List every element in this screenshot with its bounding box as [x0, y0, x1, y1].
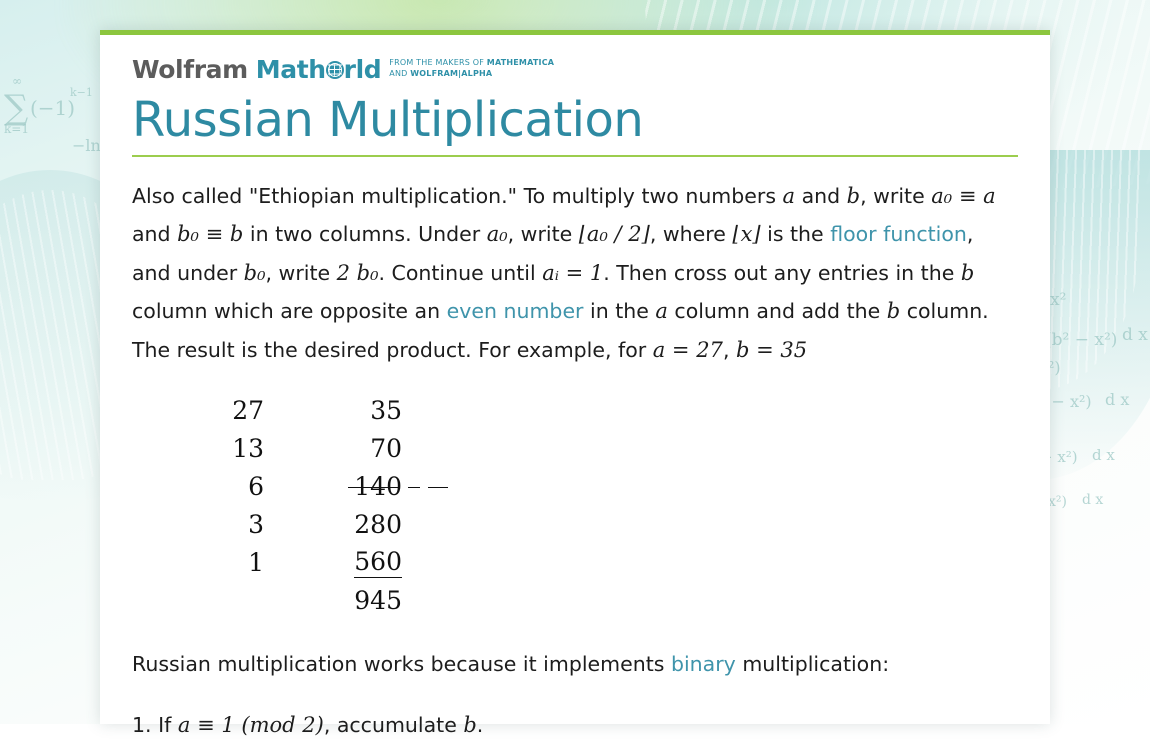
- p1-text-17: ,: [723, 338, 736, 362]
- list-item-1-text-2: , accumulate: [324, 713, 464, 737]
- cell-column-b: 70: [264, 429, 402, 467]
- cell-column-b: 280: [264, 505, 402, 543]
- cell-column-a: 6: [192, 467, 264, 505]
- tagline-line1-bold: MATHEMATICA: [487, 58, 554, 67]
- p1-text-3: , write: [860, 184, 931, 208]
- value: 280: [354, 510, 402, 539]
- bg-formula-3: (−1): [30, 96, 75, 120]
- cell-column-a: 1: [192, 543, 264, 581]
- equation-a-equals-27: a = 27: [653, 338, 723, 362]
- p1-text-15: column and add the: [668, 299, 887, 323]
- logo-wolfram-text: Wolfram: [132, 57, 248, 82]
- worked-example-table: 27351370614032801560945: [192, 391, 1018, 619]
- p1-text-5: in two columns. Under: [243, 222, 486, 246]
- algorithm-list: 1. If a ≡ 1 (mod 2), accumulate b.: [132, 706, 1018, 744]
- table-row: 3280: [192, 505, 402, 543]
- cell-column-b: 560: [264, 543, 402, 581]
- logo-tagline: FROM THE MAKERS OF MATHEMATICA AND WOLFR…: [389, 58, 554, 82]
- p2-text-2: multiplication:: [736, 652, 889, 676]
- list-item-1: 1. If a ≡ 1 (mod 2), accumulate b.: [132, 713, 483, 737]
- p1-text-10: , write: [266, 261, 337, 285]
- value: 35: [370, 396, 402, 425]
- bg-formula-13: d x: [1092, 446, 1115, 464]
- cell-column-a: 27: [192, 391, 264, 429]
- equation-b-equals-35: b = 35: [736, 338, 807, 362]
- logo-math-text: Math: [256, 57, 326, 82]
- content-card: Wolfram Mathrld FROM THE MAKERS OF MATHE…: [100, 30, 1050, 724]
- var-b0: b₀: [244, 261, 266, 285]
- tagline-line2-bold: WOLFRAM|ALPHA: [410, 69, 492, 78]
- equation-a-equiv-1-mod-2: a ≡ 1 (mod 2): [178, 713, 324, 737]
- bg-formula-6: x²: [1050, 290, 1066, 310]
- bg-formula-1: ∞: [12, 74, 22, 88]
- globe-icon: [326, 61, 344, 79]
- link-floor-function[interactable]: floor function: [830, 222, 967, 246]
- var-b-1: b: [847, 184, 860, 208]
- list-item-1-number: 1.: [132, 713, 152, 737]
- logo-mathworld-text: Mathrld: [256, 57, 382, 82]
- calc-table: 27351370614032801560945: [192, 391, 402, 619]
- p1-text-6: , write: [508, 222, 579, 246]
- var-b-col: b: [961, 261, 974, 285]
- crossed-out-value: 140: [354, 472, 402, 501]
- p1-text-4: and: [132, 222, 177, 246]
- equation-b0-equiv-b: b₀ ≡ b: [177, 222, 243, 246]
- bg-formula-5: −ln: [72, 136, 101, 155]
- equation-ai-equals-1: aᵢ = 1: [542, 261, 603, 285]
- p1-text-11: . Continue until: [379, 261, 543, 285]
- link-binary[interactable]: binary: [671, 652, 736, 676]
- cell-column-a: 3: [192, 505, 264, 543]
- intro-paragraph: Also called "Ethiopian multiplication." …: [132, 177, 1018, 370]
- table-row: 6140: [192, 467, 402, 505]
- var-a0: a₀: [487, 222, 508, 246]
- p2-text-1: Russian multiplication works because it …: [132, 652, 671, 676]
- equation-floor-x: ⌊x⌋: [732, 222, 760, 246]
- logo-world-tail: rld: [344, 57, 382, 82]
- table-row: 1370: [192, 429, 402, 467]
- bg-formula-14: x²): [1048, 494, 1067, 510]
- var-b-col-2: b: [887, 299, 900, 323]
- title-underline-rule: [132, 155, 1018, 157]
- cell-column-b: 945: [264, 581, 402, 619]
- p1-text-13: column which are opposite an: [132, 299, 447, 323]
- value: 945: [354, 586, 402, 615]
- link-even-number[interactable]: even number: [447, 299, 584, 323]
- bg-formula-2: k=1: [4, 122, 29, 136]
- list-item-1-text-1: If: [158, 713, 178, 737]
- var-a-col: a: [655, 299, 668, 323]
- table-row: 1560: [192, 543, 402, 581]
- p1-text-12: . Then cross out any entries in the: [603, 261, 961, 285]
- cell-column-b: 35: [264, 391, 402, 429]
- table-row: 2735: [192, 391, 402, 429]
- p1-text-8: is the: [761, 222, 831, 246]
- site-logo[interactable]: Wolfram Mathrld FROM THE MAKERS OF MATHE…: [132, 35, 1018, 82]
- underlined-value: 560: [354, 547, 402, 578]
- page-title: Russian Multiplication: [132, 94, 1018, 147]
- table-row: 945: [192, 581, 402, 619]
- list-item-1-var-b: b: [463, 713, 476, 737]
- p1-text-7: , where: [650, 222, 733, 246]
- equation-floor-a0-over-2: ⌊a₀ / 2⌋: [579, 222, 650, 246]
- equation-2-b0: 2 b₀: [337, 261, 379, 285]
- bg-formula-7: (b² − x²): [1045, 330, 1117, 350]
- binary-explanation-paragraph: Russian multiplication works because it …: [132, 645, 1018, 684]
- p1-text-1: Also called "Ethiopian multiplication." …: [132, 184, 783, 208]
- tagline-line1-light: FROM THE MAKERS OF: [389, 58, 487, 67]
- value: 70: [370, 434, 402, 463]
- list-item-1-text-3: .: [477, 713, 484, 737]
- p1-text-14: in the: [583, 299, 655, 323]
- bg-formula-4: k−1: [70, 86, 93, 99]
- bg-formula-11: d x: [1105, 390, 1129, 409]
- cell-column-b: 140: [264, 467, 402, 505]
- tagline-line2-light: AND: [389, 69, 410, 78]
- equation-a0-equiv-a: a₀ ≡ a: [931, 184, 995, 208]
- cell-column-a: [192, 581, 264, 619]
- var-a-1: a: [783, 184, 796, 208]
- bg-formula-15: d x: [1082, 492, 1103, 508]
- bg-formula-8: d x: [1122, 325, 1148, 345]
- p1-text-2: and: [795, 184, 847, 208]
- cell-column-a: 13: [192, 429, 264, 467]
